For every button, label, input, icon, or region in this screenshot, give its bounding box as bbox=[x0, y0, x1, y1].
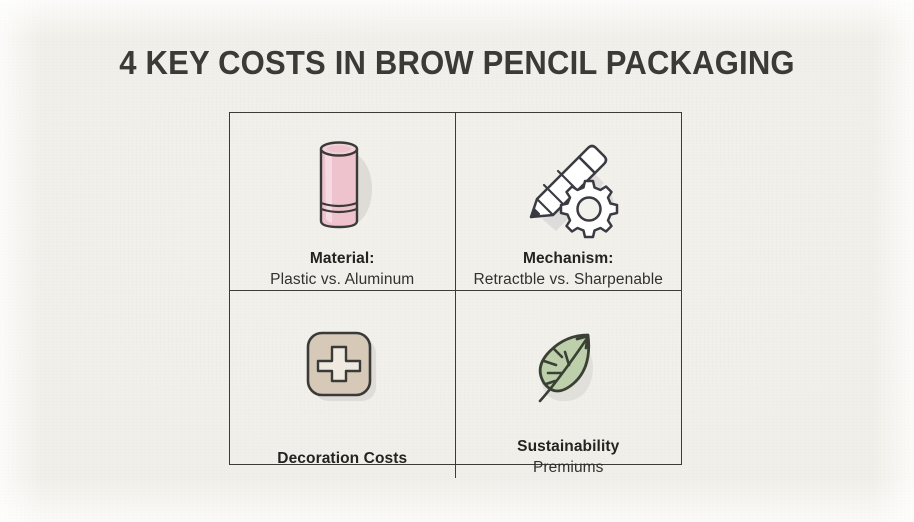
infographic-slide: 4 KEY COSTS IN BROW PENCIL PACKAGING Mat… bbox=[0, 0, 914, 522]
quadrant-material-label: Material: bbox=[238, 249, 447, 269]
quadrant-sustainability-label: Sustainability bbox=[464, 437, 674, 457]
quadrant-material[interactable]: Material: Plastic vs. Aluminum bbox=[230, 113, 456, 291]
quadrant-mechanism[interactable]: Mechanism: Retractble vs. Sharpenable bbox=[456, 113, 682, 291]
quadrant-decoration[interactable]: Decoration Costs bbox=[230, 291, 456, 478]
quadrant-sustainability-sublabel: Premiums bbox=[464, 457, 674, 478]
quadrant-decoration-label: Decoration Costs bbox=[238, 449, 447, 469]
stamp-square-icon bbox=[230, 311, 455, 423]
quadrant-mechanism-labels: Mechanism: Retractble vs. Sharpenable bbox=[456, 249, 682, 290]
quadrant-grid: Material: Plastic vs. Aluminum bbox=[229, 112, 682, 465]
quadrant-sustainability-labels: Sustainability Premiums bbox=[456, 437, 682, 478]
quadrant-decoration-labels: Decoration Costs bbox=[230, 449, 455, 469]
page-title: 4 KEY COSTS IN BROW PENCIL PACKAGING bbox=[27, 44, 886, 82]
quadrant-material-sublabel: Plastic vs. Aluminum bbox=[238, 269, 447, 290]
leaf-arrow-icon bbox=[456, 311, 682, 423]
quadrant-material-labels: Material: Plastic vs. Aluminum bbox=[230, 249, 455, 290]
pencil-gear-icon bbox=[456, 129, 682, 241]
quadrant-mechanism-label: Mechanism: bbox=[464, 249, 674, 269]
lipstick-tube-icon bbox=[230, 129, 455, 241]
quadrant-mechanism-sublabel: Retractble vs. Sharpenable bbox=[464, 269, 674, 290]
quadrant-sustainability[interactable]: Sustainability Premiums bbox=[456, 291, 682, 478]
